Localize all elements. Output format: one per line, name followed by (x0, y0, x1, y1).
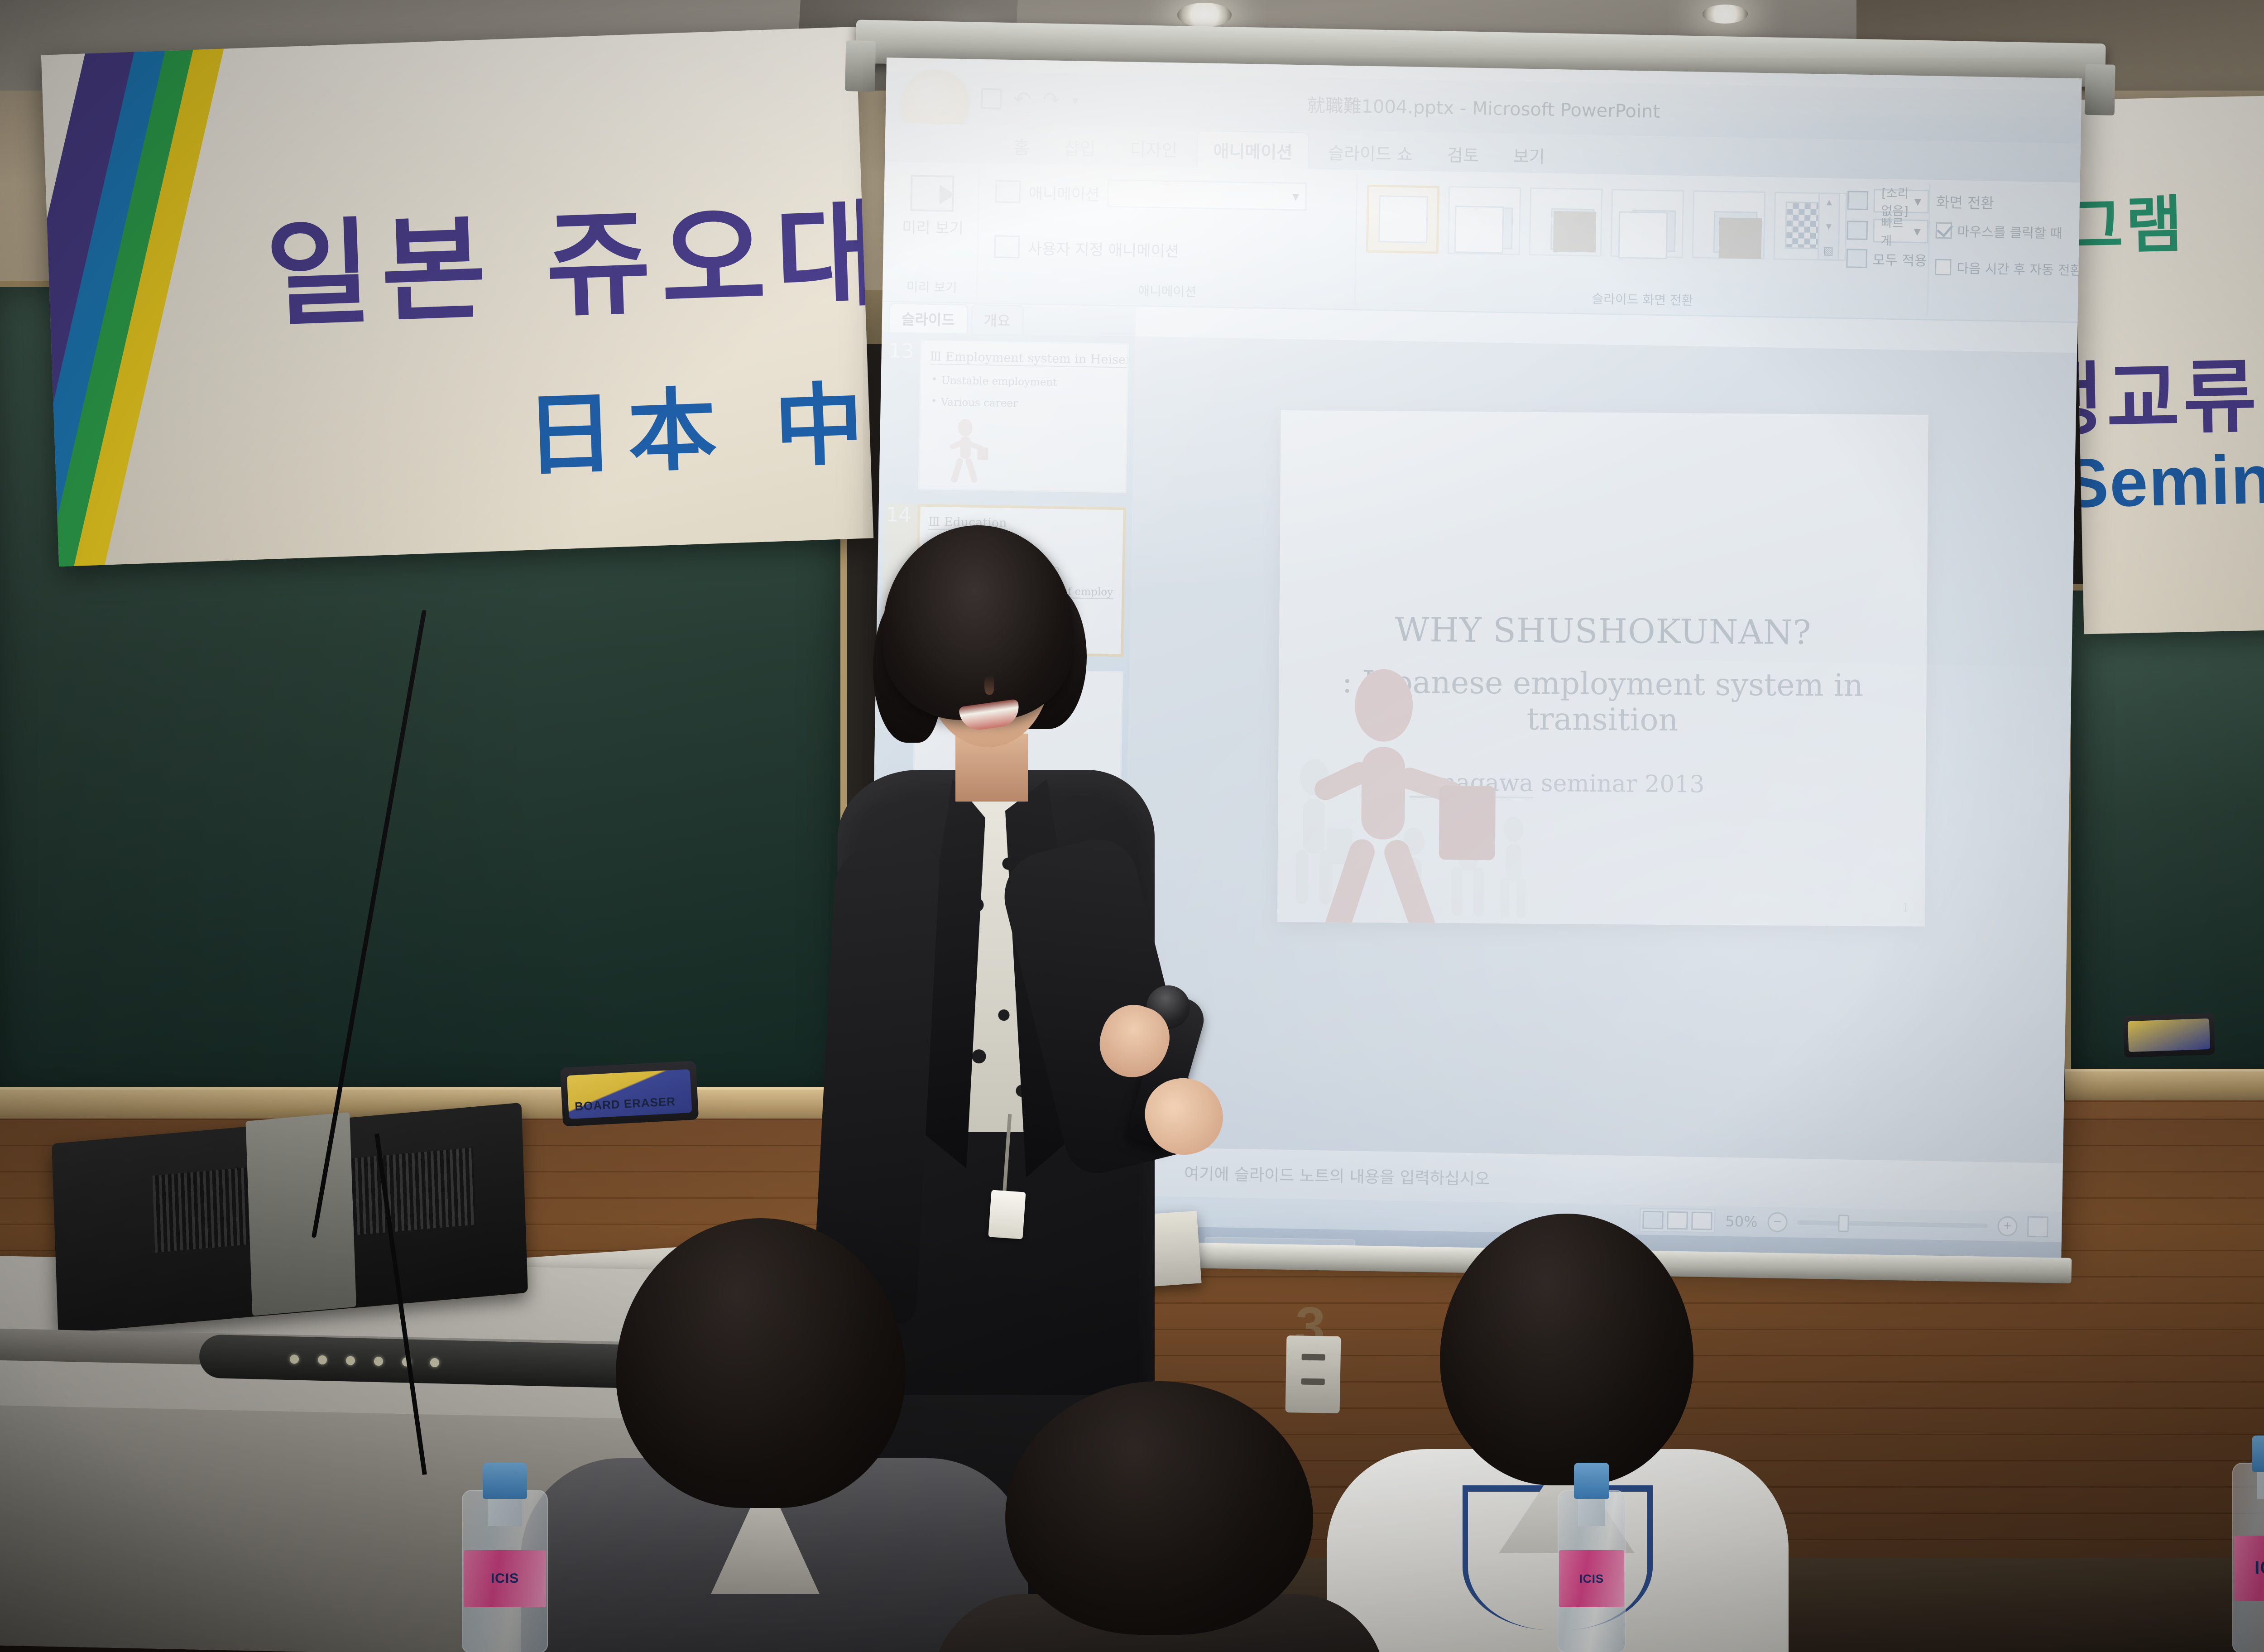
gallery-expand-icon[interactable]: ▧ (1823, 245, 1833, 256)
audience-member (933, 1381, 1386, 1652)
tab-review[interactable]: 검토 (1431, 135, 1494, 172)
redo-icon[interactable]: ↷ (1043, 90, 1060, 109)
presenter-nose (984, 675, 994, 695)
transition-sound-dropdown[interactable]: [소리 없음] ▾ (1873, 189, 1929, 213)
transition-thumb[interactable] (1529, 187, 1603, 257)
transition-speed-dropdown[interactable]: 빠르게 ▾ (1873, 219, 1928, 243)
custom-animation-icon[interactable] (994, 235, 1020, 258)
tab-view[interactable]: 보기 (1497, 137, 1560, 173)
banner-right-line2: Seminar (2073, 438, 2264, 523)
banner-left-line2: 日本 中央 (523, 349, 873, 493)
transition-speed-value: 빠르게 (1874, 213, 1914, 249)
board-eraser (2123, 1013, 2215, 1058)
chalk-ledge-right (2065, 1069, 2264, 1105)
slide-author-rest: seminar 2013 (1533, 770, 1705, 798)
ribbon-group-slide-transition: ▴ ▾ ▧ [소리 없음] ▾ (1358, 173, 1931, 316)
custom-animation-button[interactable]: 사용자 지정 애니메이션 (1027, 236, 1179, 261)
group-label-preview: 미리 보기 (887, 277, 977, 296)
status-led (374, 1357, 383, 1366)
status-led (318, 1355, 327, 1364)
walking-businessman-figure-icon (940, 418, 991, 487)
transition-thumb[interactable] (1692, 190, 1766, 259)
bottle-cap (483, 1463, 528, 1499)
bottle-cap (1574, 1463, 1609, 1499)
zoom-in-icon[interactable]: + (1997, 1216, 2018, 1236)
slide-thumb-title: Ⅲ Employment system in Heisei era② (930, 350, 1129, 369)
auto-advance-label: 다음 시간 후 자동 전환: (1957, 258, 2082, 279)
pane-tabs[interactable]: 슬라이드 개요 (882, 302, 1136, 336)
apply-to-all-icon (1846, 249, 1867, 268)
tab-slideshow[interactable]: 슬라이드 쇼 (1312, 134, 1428, 171)
banner-right-line1: 행교류 세미 (2073, 328, 2264, 452)
tab-design[interactable]: 디자인 (1114, 130, 1193, 167)
slide-thumbnail[interactable]: 13 Ⅲ Employment system in Heisei era② Un… (885, 339, 1129, 493)
chevron-up-icon[interactable]: ▴ (1827, 197, 1832, 207)
bottle-label: ICIS (1579, 1572, 1604, 1586)
chevron-down-icon[interactable]: ▾ (1914, 193, 1921, 209)
chevron-down-icon[interactable]: ▾ (1914, 223, 1921, 239)
gallery-scroll-buttons[interactable]: ▴ ▾ ▧ (1818, 192, 1841, 261)
chevron-down-icon[interactable]: ▾ (1826, 221, 1832, 232)
ribbon-group-advance-slide: 화면 전환 마우스를 클릭할 때 다음 시간 후 자동 전환: 00:00 (1930, 184, 2080, 319)
window-title: 就職難1004.pptx - Microsoft PowerPoint (1307, 91, 1660, 123)
advance-slide-title: 화면 전환 (1936, 191, 1994, 213)
seminar-room-photo: 3 일본 쥬오대 日本 中央 그램 행교류 세미 Seminar ↶ (0, 0, 2264, 1652)
transition-thumb[interactable] (1448, 186, 1521, 255)
animate-dropdown[interactable]: ▾ (1108, 179, 1307, 211)
undo-icon[interactable]: ↶ (1013, 90, 1031, 109)
transition-thumb[interactable] (1611, 189, 1684, 258)
slide-thumb-bullet: Various career (929, 396, 1118, 411)
transition-speed-icon (1847, 221, 1868, 240)
zoom-slider-handle[interactable] (1838, 1215, 1849, 1232)
animate-value (1109, 193, 1292, 197)
quick-access-toolbar[interactable]: ↶ ↷ ▾ (981, 88, 1079, 111)
slide-title: WHY SHUSHOKUNAN? (1279, 610, 1927, 653)
presenter-hair (883, 525, 1073, 720)
banner-left: 일본 쥬오대 日本 中央 (41, 27, 873, 567)
slide-page-number: 1 (1902, 901, 1909, 915)
banner-left-line1: 일본 쥬오대 (263, 162, 873, 349)
banner-right-line0: 그램 (2073, 174, 2186, 266)
pane-tab-outline[interactable]: 개요 (970, 304, 1024, 334)
on-mouse-click-checkbox[interactable] (1935, 222, 1952, 239)
status-led (346, 1356, 355, 1365)
water-bottle: ICIS (2232, 1436, 2264, 1652)
slide-editing-area[interactable]: WHY SHUSHOKUNAN? : Japanese employment s… (1121, 336, 2077, 1163)
tab-insert[interactable]: 삽입 (1048, 129, 1111, 165)
transition-sound-icon (1847, 191, 1869, 210)
animate-icon[interactable] (995, 180, 1021, 203)
animate-label: 애니메이션 (1029, 181, 1100, 204)
banner-right: 그램 행교류 세미 Seminar (2073, 91, 2264, 634)
group-label-slide-transition: 슬라이드 화면 전환 (1358, 285, 1928, 313)
ribbon: 미리 보기 미리 보기 애니메이션 ▾ 사용자 지정 애니메이션 (883, 162, 2080, 323)
status-led (290, 1354, 299, 1364)
banner-ribbon-graphic (41, 27, 212, 567)
ribbon-group-preview: 미리 보기 미리 보기 (887, 165, 980, 299)
water-bottle: ICIS (462, 1463, 548, 1652)
zoom-slider[interactable] (1797, 1220, 1987, 1228)
monitor-stand (245, 1112, 356, 1316)
chevron-down-icon[interactable]: ▾ (1292, 188, 1300, 204)
slide-thumb-bullet: Unstable employment (929, 375, 1118, 389)
ribbon-group-animation: 애니메이션 ▾ 사용자 지정 애니메이션 애니메이션 (980, 167, 1358, 306)
ceiling-downlight (1177, 3, 1232, 27)
bottle-cap (2252, 1436, 2264, 1472)
transition-gallery[interactable] (1366, 185, 1847, 261)
fit-to-window-icon[interactable] (2027, 1216, 2048, 1238)
chalkboard-right (2065, 584, 2264, 1087)
walking-businessman-crowd-graphic (1295, 668, 1551, 924)
ceiling-downlight (1703, 5, 1748, 24)
water-bottle: ICIS (1558, 1463, 1626, 1652)
auto-advance-checkbox[interactable] (1935, 259, 1952, 276)
preview-button[interactable]: 미리 보기 (888, 219, 978, 238)
tab-home[interactable]: 홈 (998, 128, 1045, 165)
slide-number: 13 (885, 339, 914, 489)
status-led (430, 1358, 439, 1367)
group-label-animation: 애니메이션 (980, 279, 1355, 303)
transition-thumb-no-transition[interactable] (1366, 185, 1440, 254)
apply-to-all-button[interactable]: 모두 적용 (1872, 249, 1927, 269)
tab-animations[interactable]: 애니메이션 (1196, 130, 1309, 169)
chevron-down-icon[interactable]: ▾ (1072, 93, 1079, 108)
preview-play-icon[interactable] (910, 175, 954, 212)
on-mouse-click-label: 마우스를 클릭할 때 (1957, 221, 2063, 242)
save-icon[interactable] (981, 88, 1002, 110)
bottle-label: ICIS (491, 1571, 519, 1586)
pane-tab-slides[interactable]: 슬라이드 (888, 303, 968, 333)
board-eraser: BOARD ERASER (560, 1061, 699, 1127)
bottle-label: ICIS (2254, 1558, 2264, 1578)
current-slide[interactable]: WHY SHUSHOKUNAN? : Japanese employment s… (1277, 410, 1928, 927)
